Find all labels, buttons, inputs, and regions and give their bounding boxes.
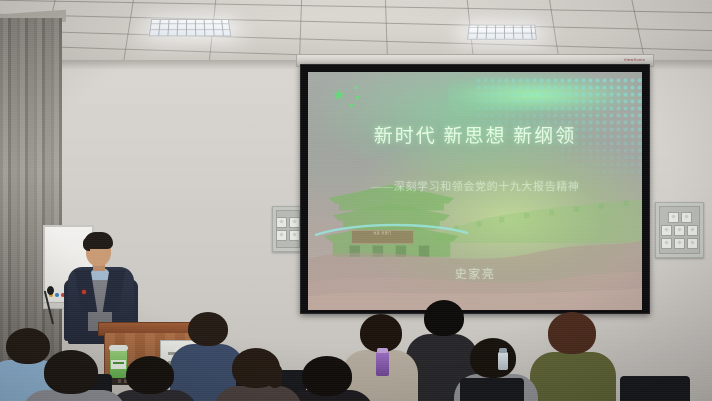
chair-back <box>620 376 690 401</box>
switch-toggle[interactable] <box>674 238 685 249</box>
switch-toggle[interactable] <box>289 217 300 228</box>
lecture-hall-photo: ViewSonic <box>0 0 712 401</box>
canister-label <box>111 360 126 369</box>
brand-logo: ViewSonic <box>624 57 645 62</box>
slide-subtitle: ——深刻学习和领会党的十九大报告精神 <box>308 181 642 194</box>
switch-toggle[interactable] <box>687 238 698 249</box>
canister-lid <box>109 345 128 351</box>
lapel-pin <box>82 290 86 294</box>
slide-author: 史家亮 <box>308 267 642 281</box>
star-dot <box>350 104 353 107</box>
water-bottle-purple[interactable] <box>376 352 389 376</box>
ceiling-light-right <box>467 25 537 40</box>
chair-back <box>460 378 524 401</box>
microphone-head <box>47 286 54 295</box>
presenter-sideburn <box>83 237 90 251</box>
switch-toggle[interactable] <box>674 225 685 236</box>
switch-toggle[interactable] <box>289 230 300 241</box>
water-bottle-clear[interactable] <box>498 352 508 370</box>
tea-canister[interactable] <box>110 348 127 378</box>
projected-slide: 北京·天安门 新时代 新思想 新纲领 ——深刻学习和领会党的十九大报告精神 史家… <box>308 72 642 310</box>
switch-toggle[interactable] <box>276 230 287 241</box>
switch-toggle[interactable] <box>661 238 672 249</box>
projection-screen: ViewSonic <box>300 58 648 312</box>
light-switch-panel-right[interactable] <box>655 202 704 258</box>
ceiling-light-left <box>149 19 231 36</box>
screen-frame: 北京·天安门 新时代 新思想 新纲领 ——深刻学习和领会党的十九大报告精神 史家… <box>300 64 650 314</box>
star-dot <box>355 86 358 89</box>
switch-toggle[interactable] <box>661 225 672 236</box>
slide-title: 新时代 新思想 新纲领 <box>308 126 642 148</box>
foreground-hills <box>308 201 642 310</box>
switch-toggle[interactable] <box>687 225 698 236</box>
ceiling-tile-grid <box>0 0 712 62</box>
switch-toggle[interactable] <box>668 212 679 223</box>
switch-toggle[interactable] <box>681 212 692 223</box>
switch-toggle[interactable] <box>276 217 287 228</box>
